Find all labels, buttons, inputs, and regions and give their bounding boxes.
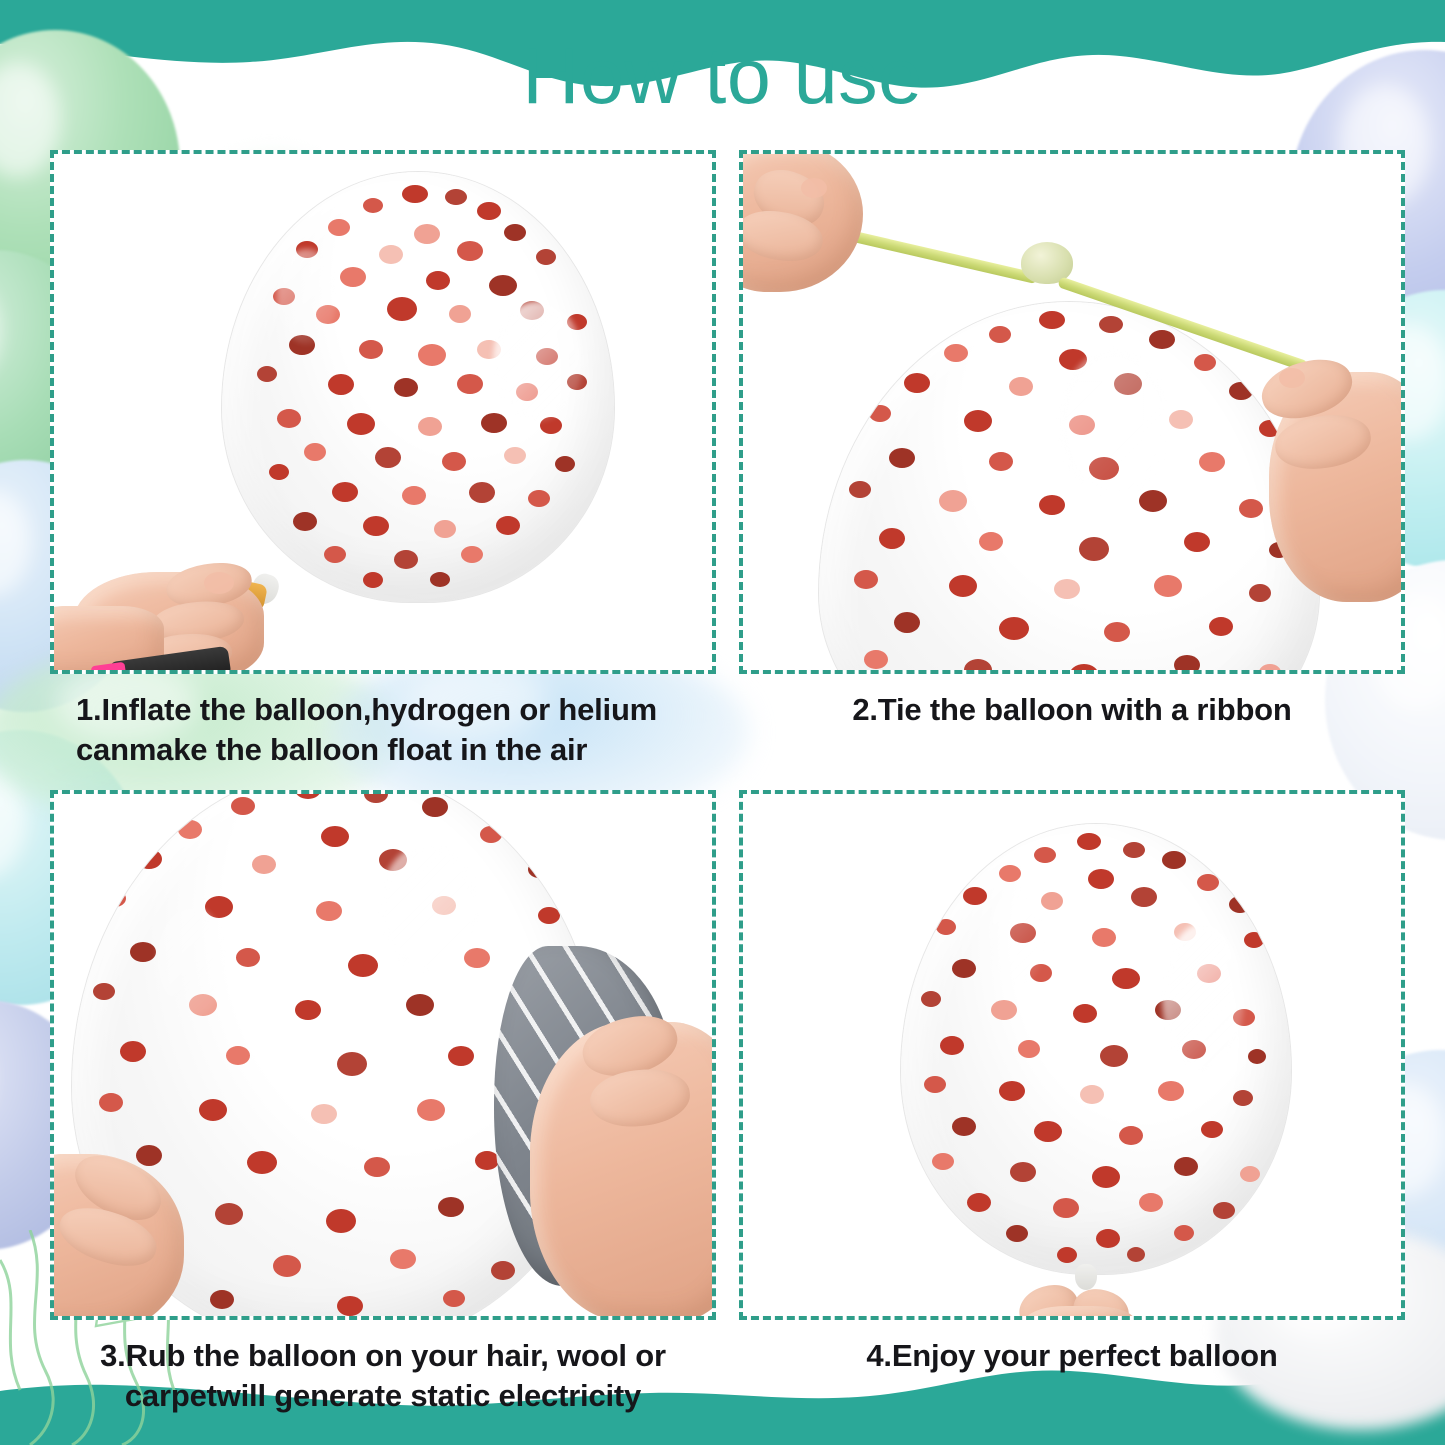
page-title: How to use [0, 36, 1445, 115]
step-2-caption: 2.Tie the balloon with a ribbon [739, 690, 1405, 730]
scene-inflating-balloon [54, 154, 712, 670]
scene-tying-ribbon [743, 154, 1401, 670]
scene-finished-balloon [743, 794, 1401, 1316]
step-2-photo [739, 150, 1405, 674]
step-1-caption-line-1: 1.Inflate the balloon,hydrogen or helium [76, 690, 710, 730]
step-card-1: 1.Inflate the balloon,hydrogen or helium… [50, 150, 716, 769]
step-1-photo [50, 150, 716, 674]
confetti-balloon-1 [222, 172, 614, 602]
balloon-neck-4 [1075, 1264, 1097, 1290]
fingernail-right [1279, 368, 1305, 388]
step-3-photo [50, 790, 716, 1320]
confetti-balloon-2 [819, 302, 1319, 674]
step-3-caption-line-2: carpetwill generate static electricity [56, 1376, 710, 1416]
fingernail-left [801, 178, 827, 198]
step-1-caption-line-2: canmake the balloon float in the air [76, 730, 710, 770]
scene-rubbing-balloon [54, 794, 712, 1316]
step-1-caption: 1.Inflate the balloon,hydrogen or helium… [50, 690, 716, 769]
step-2-caption-line-1: 2.Tie the balloon with a ribbon [745, 690, 1399, 730]
steps-grid: 1.Inflate the balloon,hydrogen or helium… [50, 150, 1405, 1390]
step-4-caption: 4.Enjoy your perfect balloon [739, 1336, 1405, 1376]
step-card-3: 3.Rub the balloon on your hair, wool or … [50, 790, 716, 1415]
step-card-4: 4.Enjoy your perfect balloon [739, 790, 1405, 1376]
step-4-caption-line-1: 4.Enjoy your perfect balloon [745, 1336, 1399, 1376]
thumb-nail [204, 572, 234, 594]
step-4-photo [739, 790, 1405, 1320]
step-card-2: 2.Tie the balloon with a ribbon [739, 150, 1405, 730]
confetti-balloon-4 [901, 824, 1291, 1274]
step-3-caption-line-1: 3.Rub the balloon on your hair, wool or [56, 1336, 710, 1376]
step-3-caption: 3.Rub the balloon on your hair, wool or … [50, 1336, 716, 1415]
